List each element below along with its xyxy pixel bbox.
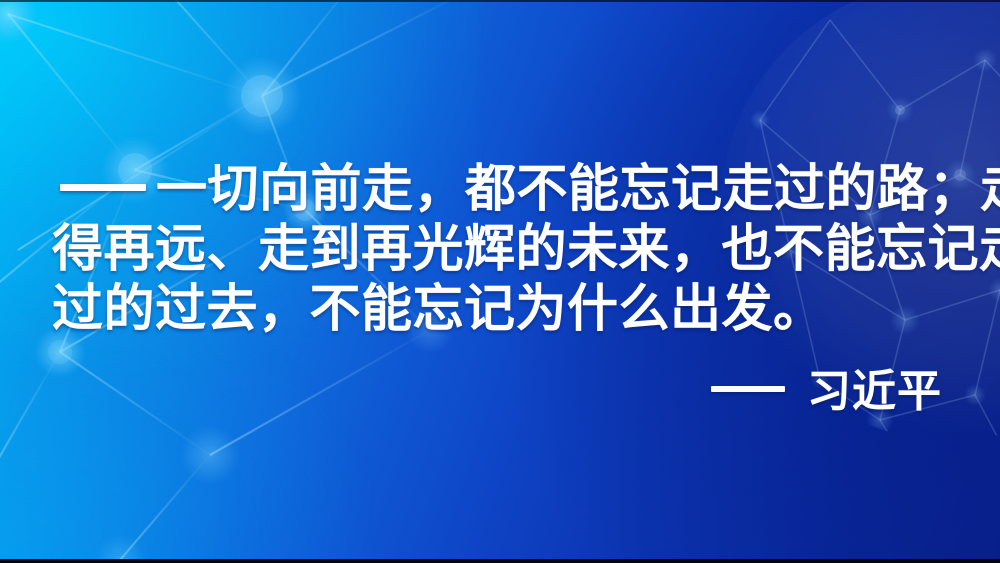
attribution-dash-icon — [711, 386, 785, 392]
quote-line-1: 一切向前走，都不能忘记走过的路；走 — [52, 160, 946, 220]
attribution-name: 习近平 — [807, 366, 942, 418]
bottom-edge-band — [0, 559, 1000, 563]
quote-line-1-text: 一切向前走，都不能忘记走过的路；走 — [156, 160, 1000, 219]
quote-poster: 一切向前走，都不能忘记走过的路；走 得再远、走到再光辉的未来，也不能忘记走 过的… — [0, 0, 1000, 563]
top-edge-band — [0, 0, 1000, 2]
quote-content: 一切向前走，都不能忘记走过的路；走 得再远、走到再光辉的未来，也不能忘记走 过的… — [0, 0, 1000, 563]
quote-text-block: 一切向前走，都不能忘记走过的路；走 得再远、走到再光辉的未来，也不能忘记走 过的… — [52, 160, 946, 340]
quote-line-3-text: 过的过去，不能忘记为什么出发。 — [52, 280, 825, 339]
quote-line-2: 得再远、走到再光辉的未来，也不能忘记走 — [52, 220, 946, 280]
quote-line-3: 过的过去，不能忘记为什么出发。 — [52, 280, 946, 340]
quote-attribution: 习近平 — [711, 366, 942, 418]
leading-dash-icon — [60, 184, 146, 191]
quote-line-2-text: 得再远、走到再光辉的未来，也不能忘记走 — [52, 220, 1000, 279]
